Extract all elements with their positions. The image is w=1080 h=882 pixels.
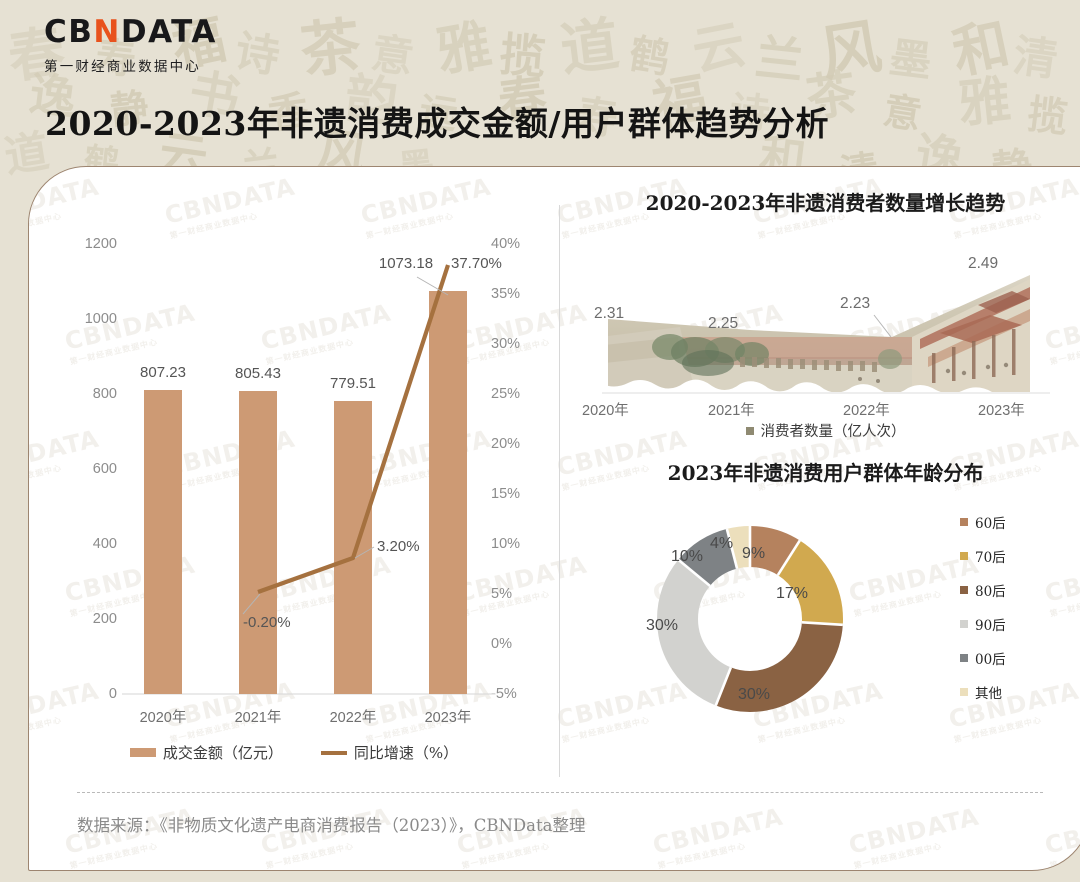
legend-item-70hou[interactable]: 70后: [960, 546, 1006, 566]
x-axis-label-2023: 2023年: [398, 706, 498, 727]
area-chart-legend: 消费者数量（亿人次）: [560, 420, 1080, 441]
calligraphy-glyph: 意: [368, 19, 418, 85]
logo-text-accent: N: [93, 14, 120, 50]
gmv-combo-chart: 1200 1000 800 600 400 200 0 40% 35% 30% …: [29, 167, 559, 787]
calligraphy-glyph: 茶: [296, 0, 365, 90]
logo-text-part2: DATA: [121, 14, 217, 50]
calligraphy-glyph: 意: [880, 79, 926, 139]
legend-label-other: 其他: [975, 682, 1002, 702]
gmv-chart-legend: 成交金额（亿元） 同比增速（%）: [29, 742, 559, 763]
area-chart-svg: [560, 187, 1080, 417]
calligraphy-glyph: 清: [1010, 19, 1062, 89]
legend-label-70hou: 70后: [975, 546, 1006, 566]
legend-item-00hou[interactable]: 00后: [960, 648, 1006, 668]
growth-line-svg: [29, 167, 559, 727]
line-value-2023: 37.70%: [451, 255, 502, 272]
x-axis-label-2020: 2020年: [113, 706, 213, 727]
age-donut-chart: 2023年非遗消费用户群体年龄分布: [560, 457, 1080, 787]
line-swatch-icon: [321, 751, 347, 755]
square-swatch-icon: [746, 427, 754, 435]
donut-chart-title: 2023年非遗消费用户群体年龄分布: [560, 457, 1080, 486]
legend-label-80hou: 80后: [975, 580, 1006, 600]
area-x-label-2021: 2021年: [708, 399, 755, 420]
x-axis-label-2021: 2021年: [208, 706, 308, 727]
donut-label-00hou: 10%: [671, 548, 703, 566]
cbndata-logo: CBNDATA: [44, 14, 217, 48]
swatch-70hou-icon: [960, 552, 968, 560]
bar-swatch-icon: [130, 748, 156, 757]
legend-item-growth[interactable]: 同比增速（%）: [321, 742, 458, 763]
legend-item-consumers[interactable]: 消费者数量（亿人次）: [746, 420, 906, 441]
line-value-2021: -0.20%: [243, 614, 291, 631]
donut-label-other: 4%: [710, 535, 733, 553]
calligraphy-glyph: 揽: [1025, 82, 1072, 144]
legend-label-00hou: 00后: [975, 648, 1006, 668]
painting-texture-fill: [600, 267, 1040, 397]
swatch-00hou-icon: [960, 654, 968, 662]
legend-item-60hou[interactable]: 60后: [960, 512, 1006, 532]
page-title: 2020-2023年非遗消费成交金额/用户群体趋势分析: [45, 97, 829, 145]
calligraphy-glyph: 和: [944, 0, 1016, 90]
line-value-2022: 3.20%: [377, 538, 420, 555]
swatch-90hou-icon: [960, 620, 968, 628]
donut-label-80hou: 30%: [738, 686, 770, 704]
legend-item-other[interactable]: 其他: [960, 682, 1006, 702]
calligraphy-glyph: 鹤: [626, 21, 675, 85]
legend-label-90hou: 90后: [975, 614, 1006, 634]
calligraphy-glyph: 墨: [886, 24, 935, 90]
legend-label-60hou: 60后: [975, 512, 1006, 532]
consumers-area-chart: 2020-2023年非遗消费者数量增长趋势: [560, 187, 1080, 452]
area-x-label-2020: 2020年: [582, 399, 629, 420]
watermark: CBNDATA第一财经商业数据中心: [650, 803, 788, 871]
donut-label-60hou: 9%: [742, 545, 765, 563]
x-axis-label-2022: 2022年: [303, 706, 403, 727]
calligraphy-glyph: 云: [685, 2, 750, 86]
calligraphy-glyph: 雅: [430, 0, 497, 87]
logo-text-part1: CB: [44, 14, 93, 50]
swatch-60hou-icon: [960, 518, 968, 526]
legend-item-90hou[interactable]: 90后: [960, 614, 1006, 634]
calligraphy-glyph: 兰: [752, 18, 807, 93]
legend-item-gmv[interactable]: 成交金额（亿元）: [130, 742, 283, 763]
calligraphy-glyph: 雅: [954, 57, 1014, 137]
watermark: CBNDATA第一财经商业数据中心: [846, 803, 984, 871]
donut-label-90hou: 30%: [646, 617, 678, 635]
calligraphy-glyph: 诗: [231, 15, 285, 86]
calligraphy-glyph: 风: [814, 0, 887, 93]
donut-chart-legend: 60后 70后 80后 90后 00后 其他: [960, 512, 1006, 702]
legend-label-consumers: 消费者数量（亿人次）: [761, 420, 906, 441]
legend-label-gmv: 成交金额（亿元）: [163, 742, 283, 763]
calligraphy-glyph: 道: [555, 0, 623, 87]
footer-divider: [77, 792, 1043, 793]
area-value-2020: 2.31: [594, 305, 624, 323]
swatch-80hou-icon: [960, 586, 968, 594]
content-card: CBNDATA第一财经商业数据中心CBNDATA第一财经商业数据中心CBNDAT…: [28, 166, 1080, 871]
area-value-2021: 2.25: [708, 315, 738, 333]
legend-label-growth: 同比增速（%）: [354, 742, 458, 763]
swatch-other-icon: [960, 688, 968, 696]
donut-label-70hou: 17%: [776, 585, 808, 603]
legend-item-80hou[interactable]: 80后: [960, 580, 1006, 600]
area-x-label-2023: 2023年: [978, 399, 1025, 420]
logo-subtitle: 第一财经商业数据中心: [44, 55, 217, 75]
area-value-2022: 2.23: [840, 295, 870, 313]
area-value-2023: 2.49: [968, 255, 998, 273]
data-source-note: 数据来源：《非物质文化遗产电商消费报告（2023）》，CBNData整理: [77, 812, 585, 836]
watermark: CBNDATA第一财经商业数据中心: [1042, 803, 1080, 871]
calligraphy-glyph: 揽: [497, 18, 549, 88]
area-x-label-2022: 2022年: [843, 399, 890, 420]
brand-header: CBNDATA 第一财经商业数据中心: [44, 14, 217, 75]
